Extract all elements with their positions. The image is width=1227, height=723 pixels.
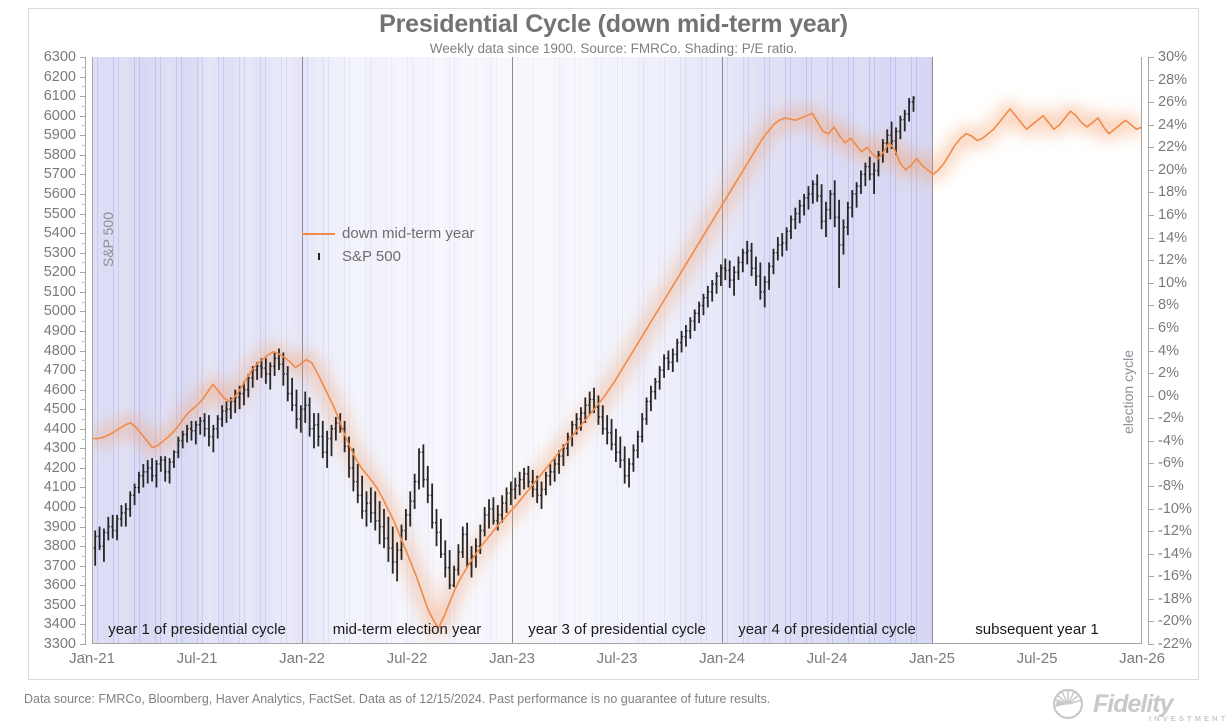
ohlc-bar bbox=[426, 466, 429, 503]
y-axis-right-tickmark bbox=[1148, 57, 1154, 58]
y-axis-right-tick-label: 12% bbox=[1158, 252, 1187, 268]
y-axis-left-tickmark bbox=[80, 214, 86, 215]
y-axis-right-tick-label: 30% bbox=[1158, 49, 1187, 65]
y-axis-right-tick-label: 6% bbox=[1158, 320, 1179, 336]
y-axis-left-tick-label: 3700 bbox=[44, 558, 76, 574]
ohlc-bar bbox=[186, 425, 189, 443]
ohlc-bar bbox=[164, 456, 167, 481]
y-axis-right-tickmark bbox=[1148, 373, 1154, 374]
ohlc-bar bbox=[391, 527, 394, 574]
ohlc-bar bbox=[641, 413, 644, 442]
y-axis-right: -22%-20%-18%-16%-14%-12%-10%-8%-6%-4%-2%… bbox=[1148, 57, 1204, 644]
ohlc-bar bbox=[610, 419, 613, 450]
ohlc-bar bbox=[177, 437, 180, 459]
x-axis-tick-label: Jul-21 bbox=[177, 650, 218, 667]
ohlc-bar bbox=[851, 190, 854, 217]
ohlc-bar bbox=[899, 116, 902, 139]
y-axis-left-tickmark bbox=[80, 77, 86, 78]
ohlc-bar bbox=[811, 180, 814, 203]
zone-label: mid-term election year bbox=[333, 621, 481, 638]
y-axis-left-tickmark bbox=[80, 468, 86, 469]
y-axis-right-tickmark bbox=[1148, 418, 1154, 419]
x-axis-tick-label: Jan-23 bbox=[489, 650, 535, 667]
ohlc-bar bbox=[846, 202, 849, 235]
y-axis-left-tickmark bbox=[80, 272, 86, 273]
zone-label: year 4 of presidential cycle bbox=[738, 621, 916, 638]
y-axis-left-title: S&P 500 bbox=[100, 212, 116, 267]
y-axis-left-minor-tickmark bbox=[82, 380, 86, 381]
ohlc-bar bbox=[724, 259, 727, 281]
y-axis-left-minor-tickmark bbox=[82, 595, 86, 596]
ohlc-bar bbox=[768, 262, 771, 289]
ohlc-bar bbox=[619, 437, 622, 468]
y-axis-left-tick-label: 4700 bbox=[44, 362, 76, 378]
ohlc-bar bbox=[431, 484, 434, 529]
y-axis-right-tickmark bbox=[1148, 125, 1154, 126]
ohlc-bar bbox=[225, 401, 228, 423]
chart-root: Presidential Cycle (down mid-term year) … bbox=[0, 0, 1227, 722]
x-axis-tick-label: Jan-24 bbox=[699, 650, 745, 667]
cycle-line-glow bbox=[92, 109, 1142, 628]
ohlc-bar bbox=[505, 487, 508, 512]
page-title: Presidential Cycle (down mid-term year) bbox=[0, 10, 1227, 39]
ohlc-bar bbox=[733, 266, 736, 295]
y-axis-left-tick-label: 5700 bbox=[44, 166, 76, 182]
ohlc-bar bbox=[737, 257, 740, 280]
y-axis-left-tickmark bbox=[80, 174, 86, 175]
fidelity-investments-text: INVESTMENTS bbox=[1149, 714, 1227, 723]
ohlc-bar bbox=[789, 215, 792, 238]
y-axis-left-minor-tickmark bbox=[82, 615, 86, 616]
y-axis-left-tick-label: 4300 bbox=[44, 440, 76, 456]
y-axis-left-tick-label: 5900 bbox=[44, 127, 76, 143]
series-canvas bbox=[92, 57, 1142, 644]
plot-bottom-border bbox=[92, 643, 1142, 644]
y-axis-left-tick-label: 4800 bbox=[44, 343, 76, 359]
y-axis-right-tickmark bbox=[1148, 351, 1154, 352]
ohlc-bar bbox=[124, 503, 127, 526]
ohlc-bar bbox=[129, 491, 132, 516]
y-axis-right-tick-label: 16% bbox=[1158, 207, 1187, 223]
ohlc-bar bbox=[194, 421, 197, 444]
ohlc-bar bbox=[781, 233, 784, 256]
y-axis-right-tick-label: -18% bbox=[1158, 591, 1192, 607]
ohlc-bar bbox=[321, 421, 324, 458]
y-axis-right-tick-label: 20% bbox=[1158, 162, 1187, 178]
fidelity-logo: Fidelity INVESTMENTS bbox=[1043, 687, 1173, 721]
y-axis-left-tickmark bbox=[80, 233, 86, 234]
ohlc-bar bbox=[365, 491, 368, 526]
ohlc-bar bbox=[606, 415, 609, 444]
y-axis-right-tickmark bbox=[1148, 283, 1154, 284]
y-axis-right-tick-label: 18% bbox=[1158, 184, 1187, 200]
ohlc-bar bbox=[444, 540, 447, 577]
ohlc-bar bbox=[540, 482, 543, 509]
y-axis-left-tick-label: 5800 bbox=[44, 147, 76, 163]
ohlc-bar bbox=[614, 429, 617, 462]
legend-item-sp500: S&P 500 bbox=[302, 245, 475, 268]
y-axis-left-minor-tickmark bbox=[82, 67, 86, 68]
ohlc-bar bbox=[181, 431, 184, 449]
ohlc-bar bbox=[146, 460, 149, 483]
y-axis-right-tick-label: -16% bbox=[1158, 568, 1192, 584]
y-axis-left-tickmark bbox=[80, 135, 86, 136]
ohlc-bar bbox=[654, 378, 657, 400]
y-axis-left-tickmark bbox=[80, 194, 86, 195]
y-axis-left-minor-tickmark bbox=[82, 282, 86, 283]
ohlc-bar bbox=[439, 519, 442, 558]
x-axis-tick-label: Jul-24 bbox=[807, 650, 848, 667]
y-axis-right-tickmark bbox=[1148, 463, 1154, 464]
ohlc-bar bbox=[750, 243, 753, 276]
y-axis-right-tick-label: -12% bbox=[1158, 523, 1192, 539]
ohlc-bar bbox=[387, 517, 390, 562]
ohlc-bar bbox=[523, 468, 526, 490]
ohlc-bar bbox=[859, 170, 862, 193]
y-axis-left-tick-label: 5500 bbox=[44, 206, 76, 222]
y-axis-right-tickmark bbox=[1148, 102, 1154, 103]
ohlc-bar bbox=[838, 200, 841, 288]
y-axis-left-tickmark bbox=[80, 292, 86, 293]
y-axis-right-tickmark bbox=[1148, 486, 1154, 487]
x-axis-tick-label: Jan-25 bbox=[909, 650, 955, 667]
y-axis-left-tickmark bbox=[80, 429, 86, 430]
ohlc-bar bbox=[676, 339, 679, 362]
y-axis-left-tickmark bbox=[80, 409, 86, 410]
y-axis-left-minor-tickmark bbox=[82, 576, 86, 577]
y-axis-right-tickmark bbox=[1148, 599, 1154, 600]
ohlc-bar bbox=[299, 405, 302, 432]
y-axis-left-tick-label: 5300 bbox=[44, 245, 76, 261]
y-axis-left-tick-label: 5200 bbox=[44, 264, 76, 280]
y-axis-right-tickmark bbox=[1148, 644, 1154, 645]
plot-area: S&P 500 election cycle down mid-term yea… bbox=[92, 57, 1142, 644]
ohlc-bar bbox=[645, 397, 648, 424]
ohlc-bar bbox=[418, 448, 421, 489]
y-axis-left-minor-tickmark bbox=[82, 321, 86, 322]
x-axis-tick-label: Jan-21 bbox=[69, 650, 115, 667]
ohlc-bar bbox=[842, 219, 845, 254]
y-axis-left-minor-tickmark bbox=[82, 419, 86, 420]
ohlc-bar bbox=[159, 456, 162, 472]
ohlc-bar bbox=[203, 413, 206, 436]
y-axis-left-tickmark bbox=[80, 96, 86, 97]
y-axis-right-tickmark bbox=[1148, 554, 1154, 555]
ohlc-bar bbox=[658, 366, 661, 389]
ohlc-bar bbox=[172, 450, 175, 468]
ohlc-bar bbox=[221, 405, 224, 427]
ohlc-bar bbox=[264, 358, 267, 383]
ohlc-bar bbox=[409, 491, 412, 526]
y-axis-left-tick-label: 6100 bbox=[44, 88, 76, 104]
ohlc-bar bbox=[706, 286, 709, 308]
y-axis-left-minor-tickmark bbox=[82, 125, 86, 126]
y-axis-right-tick-label: -8% bbox=[1158, 478, 1184, 494]
y-axis-left-tick-label: 5000 bbox=[44, 303, 76, 319]
y-axis-left-tickmark bbox=[80, 370, 86, 371]
ohlc-bar bbox=[864, 163, 867, 186]
ohlc-bar bbox=[702, 294, 705, 316]
y-axis-right-tickmark bbox=[1148, 80, 1154, 81]
ohlc-bar bbox=[326, 431, 329, 468]
y-axis-left-tickmark bbox=[80, 605, 86, 606]
ohlc-bar bbox=[317, 413, 320, 446]
ohlc-bar bbox=[199, 417, 202, 435]
y-axis-left-minor-tickmark bbox=[82, 341, 86, 342]
x-axis-tick-label: Jul-25 bbox=[1017, 650, 1058, 667]
y-axis-left-tick-label: 3800 bbox=[44, 538, 76, 554]
y-axis-left-tickmark bbox=[80, 155, 86, 156]
y-axis-left-minor-tickmark bbox=[82, 399, 86, 400]
y-axis-left-minor-tickmark bbox=[82, 262, 86, 263]
legend-bar-swatch-icon bbox=[302, 253, 335, 260]
y-axis-right-tick-label: -20% bbox=[1158, 613, 1192, 629]
ohlc-bar bbox=[461, 527, 464, 558]
ohlc-bar bbox=[803, 194, 806, 216]
ohlc-bar bbox=[207, 415, 210, 446]
ohlc-bar bbox=[649, 386, 652, 411]
plot-right-border bbox=[1141, 57, 1142, 644]
y-axis-left-tick-label: 6300 bbox=[44, 49, 76, 65]
y-axis-left-minor-tickmark bbox=[82, 243, 86, 244]
y-axis-right-tick-label: 2% bbox=[1158, 365, 1179, 381]
y-axis-right-tickmark bbox=[1148, 170, 1154, 171]
ohlc-bar bbox=[151, 458, 154, 481]
y-axis-left-tick-label: 6200 bbox=[44, 69, 76, 85]
ohlc-bar bbox=[308, 397, 311, 436]
ohlc-bar bbox=[378, 501, 381, 544]
y-axis-right-tick-label: 10% bbox=[1158, 275, 1187, 291]
y-axis-left-tick-label: 4900 bbox=[44, 323, 76, 339]
y-axis-right-tick-label: -10% bbox=[1158, 501, 1192, 517]
y-axis-right-tickmark bbox=[1148, 396, 1154, 397]
y-axis-right-title: election cycle bbox=[1120, 350, 1136, 434]
ohlc-bar bbox=[746, 241, 749, 264]
ohlc-bar bbox=[715, 272, 718, 294]
ohlc-bar bbox=[698, 302, 701, 324]
y-axis-right-tick-label: -14% bbox=[1158, 546, 1192, 562]
ohlc-bar bbox=[671, 349, 674, 372]
y-axis-left-tickmark bbox=[80, 566, 86, 567]
ohlc-bar bbox=[483, 507, 486, 536]
ohlc-bar bbox=[111, 515, 114, 538]
ohlc-bar bbox=[689, 317, 692, 339]
ohlc-bar bbox=[190, 421, 193, 441]
ohlc-bar bbox=[396, 542, 399, 581]
y-axis-right-tickmark bbox=[1148, 509, 1154, 510]
ohlc-bar bbox=[829, 190, 832, 219]
ohlc-bar bbox=[763, 276, 766, 307]
y-axis-left-tickmark bbox=[80, 331, 86, 332]
x-axis-tick-label: Jan-26 bbox=[1119, 650, 1165, 667]
ohlc-bar bbox=[855, 182, 858, 207]
y-axis-left-tick-label: 4200 bbox=[44, 460, 76, 476]
ohlc-bar bbox=[133, 484, 136, 506]
ohlc-bar bbox=[908, 98, 911, 121]
ohlc-bar bbox=[684, 325, 687, 347]
legend-line-swatch-icon bbox=[302, 233, 335, 235]
ohlc-bar bbox=[719, 264, 722, 286]
ohlc-bar bbox=[116, 515, 119, 540]
y-axis-right-tick-label: 4% bbox=[1158, 343, 1179, 359]
y-axis-left-minor-tickmark bbox=[82, 517, 86, 518]
y-axis-left-tick-label: 4400 bbox=[44, 421, 76, 437]
y-axis-right-tickmark bbox=[1148, 260, 1154, 261]
ohlc-bar bbox=[623, 446, 626, 483]
y-axis-right-tick-label: 14% bbox=[1158, 230, 1187, 246]
ohlc-bar bbox=[514, 478, 517, 500]
legend-item-cycle: down mid-term year bbox=[302, 222, 475, 245]
ohlc-bar bbox=[728, 260, 731, 287]
y-axis-left-tick-label: 6000 bbox=[44, 108, 76, 124]
ohlc-bar bbox=[903, 110, 906, 132]
ohlc-bar bbox=[413, 474, 416, 509]
x-axis-tick-label: Jan-22 bbox=[279, 650, 325, 667]
ohlc-bar bbox=[404, 509, 407, 540]
ohlc-bar bbox=[868, 157, 871, 180]
y-axis-right-tickmark bbox=[1148, 305, 1154, 306]
ohlc-bar bbox=[369, 487, 372, 522]
y-axis-left-minor-tickmark bbox=[82, 165, 86, 166]
y-axis-left-minor-tickmark bbox=[82, 106, 86, 107]
ohlc-bar bbox=[824, 202, 827, 237]
legend-label-cycle: down mid-term year bbox=[342, 225, 475, 242]
ohlc-bar bbox=[457, 544, 460, 575]
ohlc-bar bbox=[374, 491, 377, 530]
y-axis-left-minor-tickmark bbox=[82, 145, 86, 146]
y-axis-left-tick-label: 5600 bbox=[44, 186, 76, 202]
ohlc-bar bbox=[518, 472, 521, 495]
ohlc-bar bbox=[741, 249, 744, 272]
y-axis-right-tickmark bbox=[1148, 215, 1154, 216]
ohlc-bar bbox=[142, 464, 145, 487]
zone-label: year 3 of presidential cycle bbox=[528, 621, 706, 638]
y-axis-left-tickmark bbox=[80, 57, 86, 58]
y-axis-left-tick-label: 3400 bbox=[44, 616, 76, 632]
y-axis-right-tickmark bbox=[1148, 441, 1154, 442]
y-axis-left-minor-tickmark bbox=[82, 536, 86, 537]
ohlc-bar bbox=[759, 262, 762, 299]
y-axis-left-minor-tickmark bbox=[82, 497, 86, 498]
y-axis-right-tick-label: 26% bbox=[1158, 94, 1187, 110]
ohlc-bar bbox=[286, 366, 289, 401]
y-axis-left-tick-label: 4000 bbox=[44, 499, 76, 515]
ohlc-bar bbox=[785, 227, 788, 250]
chart-subtitle: Weekly data since 1900. Source: FMRCo. S… bbox=[0, 41, 1227, 56]
y-axis-left-tickmark bbox=[80, 546, 86, 547]
ohlc-bar bbox=[820, 184, 823, 229]
y-axis-right-tickmark bbox=[1148, 328, 1154, 329]
zone-label: subsequent year 1 bbox=[975, 621, 1098, 638]
y-axis-left-minor-tickmark bbox=[82, 223, 86, 224]
ohlc-bar bbox=[680, 331, 683, 353]
y-axis-right-tick-label: 0% bbox=[1158, 388, 1179, 404]
ohlc-bar bbox=[383, 509, 386, 548]
y-axis-right-tickmark bbox=[1148, 192, 1154, 193]
ohlc-bar bbox=[754, 257, 757, 286]
y-axis-left-minor-tickmark bbox=[82, 360, 86, 361]
y-axis-left-tick-label: 5400 bbox=[44, 225, 76, 241]
footnote: Data source: FMRCo, Bloomberg, Haver Ana… bbox=[24, 692, 770, 706]
ohlc-bar bbox=[509, 482, 512, 505]
legend-label-sp500: S&P 500 bbox=[342, 248, 401, 265]
y-axis-right-tickmark bbox=[1148, 621, 1154, 622]
y-axis-left-tickmark bbox=[80, 507, 86, 508]
ohlc-bar bbox=[304, 392, 307, 423]
ohlc-bar bbox=[216, 415, 219, 438]
ohlc-bar bbox=[107, 517, 110, 540]
y-axis-left-tickmark bbox=[80, 527, 86, 528]
ohlc-bar bbox=[873, 163, 876, 194]
y-axis-left-tickmark bbox=[80, 624, 86, 625]
ohlc-bar bbox=[361, 476, 364, 519]
y-axis-left-tickmark bbox=[80, 644, 86, 645]
y-axis-right-tick-label: -2% bbox=[1158, 410, 1184, 426]
ohlc-bar bbox=[816, 174, 819, 201]
y-axis-left-tick-label: 4100 bbox=[44, 479, 76, 495]
y-axis-left-minor-tickmark bbox=[82, 439, 86, 440]
ohlc-bar bbox=[833, 180, 836, 227]
ohlc-bar bbox=[448, 550, 451, 589]
ohlc-bar bbox=[628, 458, 631, 487]
y-axis-left-minor-tickmark bbox=[82, 478, 86, 479]
ohlc-bar bbox=[98, 527, 101, 550]
ohlc-bar bbox=[330, 425, 333, 456]
y-axis-right-tick-label: 8% bbox=[1158, 297, 1179, 313]
y-axis-left-minor-tickmark bbox=[82, 634, 86, 635]
ohlc-bar bbox=[168, 458, 171, 483]
y-axis-left: 3300340035003600370038003900400041004200… bbox=[30, 57, 86, 644]
y-axis-left-minor-tickmark bbox=[82, 458, 86, 459]
y-axis-right-tickmark bbox=[1148, 238, 1154, 239]
y-axis-left-tickmark bbox=[80, 116, 86, 117]
ohlc-bar bbox=[102, 529, 105, 562]
ohlc-bar bbox=[422, 444, 425, 487]
ohlc-bar bbox=[663, 354, 666, 377]
ohlc-bar bbox=[120, 505, 123, 527]
y-axis-left-tickmark bbox=[80, 351, 86, 352]
y-axis-left-tickmark bbox=[80, 311, 86, 312]
y-axis-left-tickmark bbox=[80, 253, 86, 254]
y-axis-left-minor-tickmark bbox=[82, 184, 86, 185]
ohlc-bar bbox=[212, 425, 215, 452]
ohlc-bar bbox=[794, 208, 797, 230]
ohlc-bar bbox=[632, 444, 635, 471]
legend: down mid-term year S&P 500 bbox=[302, 222, 475, 268]
zone-label: year 1 of presidential cycle bbox=[108, 621, 286, 638]
ohlc-bar bbox=[912, 96, 915, 112]
ohlc-bar bbox=[269, 362, 272, 389]
ohlc-bar bbox=[798, 200, 801, 223]
y-axis-right-tick-label: -6% bbox=[1158, 455, 1184, 471]
ohlc-bar bbox=[693, 309, 696, 331]
x-axis-tick-label: Jul-22 bbox=[387, 650, 428, 667]
y-axis-left-tick-label: 4600 bbox=[44, 382, 76, 398]
ohlc-bar bbox=[137, 472, 140, 494]
y-axis-right-tickmark bbox=[1148, 147, 1154, 148]
ohlc-bar bbox=[155, 460, 158, 487]
ohlc-bar bbox=[636, 431, 639, 458]
y-axis-left-minor-tickmark bbox=[82, 86, 86, 87]
y-axis-left-tickmark bbox=[80, 448, 86, 449]
y-axis-left-tickmark bbox=[80, 487, 86, 488]
y-axis-left-minor-tickmark bbox=[82, 204, 86, 205]
y-axis-left-tick-label: 3600 bbox=[44, 577, 76, 593]
y-axis-left-tickmark bbox=[80, 390, 86, 391]
y-axis-left-minor-tickmark bbox=[82, 302, 86, 303]
fidelity-starburst-icon bbox=[1043, 687, 1093, 721]
y-axis-right-tickmark bbox=[1148, 576, 1154, 577]
